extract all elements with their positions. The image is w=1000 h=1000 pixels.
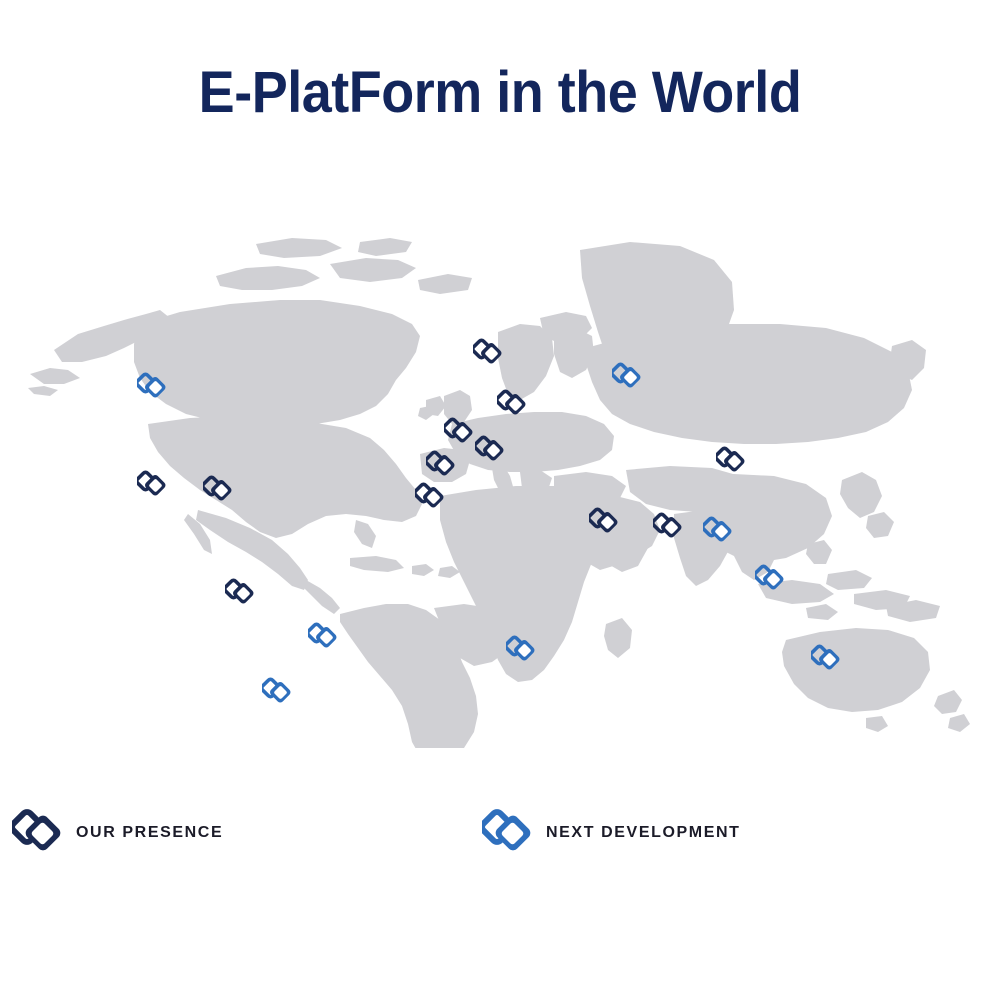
- marker-morocco[interactable]: [415, 482, 445, 512]
- legend-label-next-development: NEXT DEVELOPMENT: [546, 824, 741, 842]
- marker-india[interactable]: [653, 512, 683, 542]
- legend: OUR PRESENCE NEXT DEVELOPMENT: [0, 800, 1000, 880]
- legend-item-next-development[interactable]: NEXT DEVELOPMENT: [482, 808, 741, 858]
- marker-mexico[interactable]: [137, 470, 167, 500]
- double-diamond-icon: [482, 808, 534, 858]
- marker-brazil[interactable]: [308, 622, 338, 652]
- marker-poland[interactable]: [497, 389, 527, 419]
- marker-france[interactable]: [426, 450, 456, 480]
- marker-united-kingdom[interactable]: [444, 417, 474, 447]
- double-diamond-icon: [12, 808, 64, 858]
- page-title: E-PlatForm in the World: [35, 62, 965, 124]
- marker-southeast-asia[interactable]: [703, 516, 733, 546]
- marker-china[interactable]: [716, 446, 746, 476]
- legend-label-our-presence: OUR PRESENCE: [76, 824, 223, 842]
- marker-south-africa[interactable]: [506, 635, 536, 665]
- marker-indonesia[interactable]: [755, 564, 785, 594]
- marker-canada-west[interactable]: [137, 372, 167, 402]
- marker-middle-east[interactable]: [589, 507, 619, 537]
- legend-item-our-presence[interactable]: OUR PRESENCE: [12, 808, 223, 858]
- marker-australia[interactable]: [811, 644, 841, 674]
- slide-canvas: E-PlatForm in the World: [0, 0, 1000, 1000]
- marker-usa-southeast[interactable]: [203, 475, 233, 505]
- world-map: [20, 228, 980, 748]
- marker-south-america-nw[interactable]: [225, 578, 255, 608]
- marker-russia[interactable]: [612, 362, 642, 392]
- marker-argentina[interactable]: [262, 677, 292, 707]
- marker-norway[interactable]: [473, 338, 503, 368]
- marker-central-europe[interactable]: [475, 435, 505, 465]
